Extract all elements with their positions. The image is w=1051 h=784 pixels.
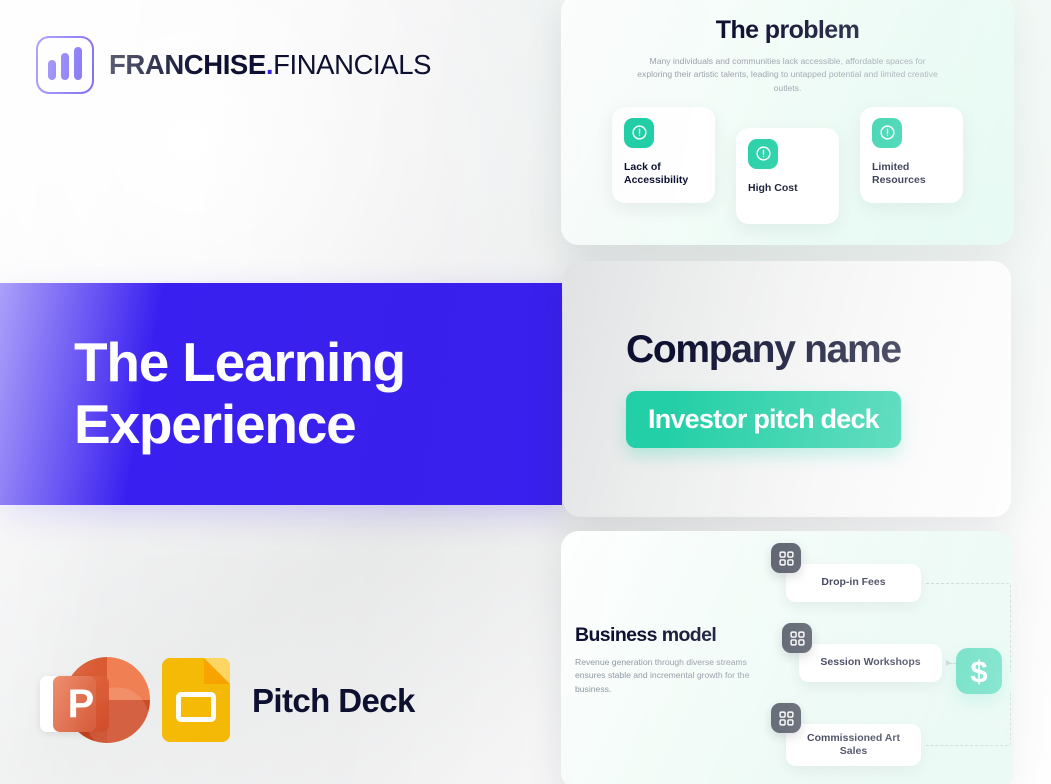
connector-bottom [926, 693, 1011, 746]
slide-preview-canvas: FRANCHISE.FINANCIALS The Learning Experi… [0, 0, 1051, 784]
problem-item: Limited Resources [860, 107, 963, 203]
problem-item-label: High Cost [748, 182, 827, 195]
business-model-diagram: Drop-in Fees Session Workshops [761, 531, 1014, 784]
grid-squares-icon [782, 623, 812, 653]
format-badges: P Pitch Deck [40, 650, 415, 750]
dollar-sign-icon: $ [956, 648, 1002, 694]
alert-circle-icon [624, 118, 654, 148]
slide-card-problem[interactable]: The problem Many individuals and communi… [561, 0, 1014, 245]
business-model-title: Business model [575, 624, 760, 647]
investor-pitch-deck-pill: Investor pitch deck [626, 391, 901, 448]
format-label: Pitch Deck [252, 684, 415, 717]
grid-squares-icon [771, 703, 801, 733]
problem-card-group: Lack of Accessibility High Cost Limited … [561, 107, 1014, 227]
hero-title: The Learning Experience [0, 332, 562, 455]
problem-item: High Cost [736, 128, 839, 224]
brand-name-dot: . [266, 49, 273, 80]
microsoft-powerpoint-icon: P [40, 650, 140, 750]
slide-card-business-model[interactable]: Business model Revenue generation throug… [561, 531, 1014, 784]
revenue-stream-item: Drop-in Fees [786, 564, 921, 602]
revenue-stream-label: Commissioned Art Sales [786, 724, 921, 766]
grid-squares-icon [771, 543, 801, 573]
powerpoint-letter: P [53, 676, 109, 732]
revenue-stream-label: Session Workshops [799, 644, 942, 682]
problem-title: The problem [561, 0, 1014, 45]
bar-chart-bracket-icon [36, 36, 94, 94]
slide-card-company[interactable]: Company name Investor pitch deck [563, 261, 1011, 517]
alert-circle-icon [748, 139, 778, 169]
brand-logo: FRANCHISE.FINANCIALS [36, 36, 431, 94]
problem-item-label: Lack of Accessibility [624, 161, 703, 187]
problem-item-label: Limited Resources [872, 161, 951, 187]
business-model-text: Business model Revenue generation throug… [575, 624, 760, 696]
brand-name-bold: FRANCHISE [109, 49, 266, 80]
brand-wordmark: FRANCHISE.FINANCIALS [109, 51, 431, 79]
hero-banner: The Learning Experience [0, 283, 562, 505]
revenue-stream-item: Commissioned Art Sales [786, 724, 921, 766]
problem-subtitle: Many individuals and communities lack ac… [632, 55, 944, 95]
alert-circle-icon [872, 118, 902, 148]
problem-item: Lack of Accessibility [612, 107, 715, 203]
revenue-stream-label: Drop-in Fees [786, 564, 921, 602]
brand-name-light: FINANCIALS [273, 49, 431, 80]
connector-arrowhead [946, 660, 951, 666]
google-slides-icon [162, 658, 230, 742]
revenue-stream-item: Session Workshops [799, 644, 942, 682]
business-model-description: Revenue generation through diverse strea… [575, 656, 760, 696]
company-title: Company name [626, 330, 1011, 369]
